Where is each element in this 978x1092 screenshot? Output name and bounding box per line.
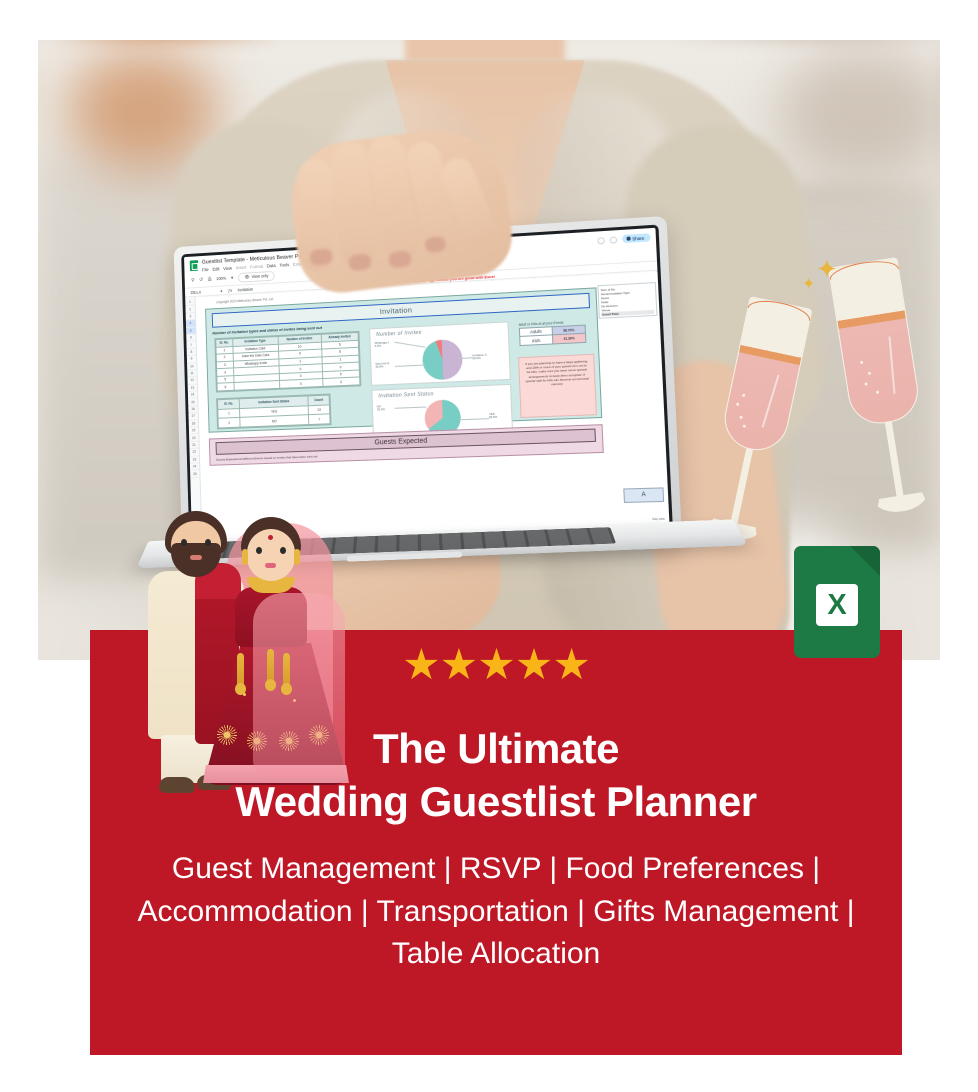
groom-mouth: [190, 555, 202, 560]
glass-shine: [888, 336, 895, 394]
cell: 0: [322, 377, 360, 386]
feature-subtitle: Guest Management | RSVP | Food Preferenc…: [130, 848, 862, 976]
view-mode-label: View only: [251, 274, 268, 280]
pie2-val-no: 35.0%: [377, 407, 385, 411]
guests-expected-subheading: Guests Expected at Different Events base…: [216, 454, 317, 461]
pie2-val-yes: 65.0%: [489, 415, 497, 419]
menu-item-data[interactable]: Data: [267, 263, 276, 268]
bubble: [868, 372, 871, 375]
bride-earring-right: [294, 549, 300, 565]
eye-icon: 👁: [245, 274, 250, 280]
chevron-down-icon-2[interactable]: ▾: [220, 288, 222, 293]
cell-reference[interactable]: D5:L4: [191, 289, 215, 295]
sparkle-icon: ✦: [816, 254, 838, 285]
guests-expected-heading: Guests Expected: [216, 429, 596, 455]
flute-rim: [828, 257, 899, 280]
flute-rim: [748, 296, 813, 321]
chevron-down-icon[interactable]: ▾: [231, 275, 234, 281]
menu-item-view[interactable]: View: [223, 265, 232, 270]
bride-eye-left: [256, 547, 262, 554]
kids-tip-note: If you are planning to have a large gath…: [518, 354, 597, 418]
bride-earring-left: [242, 549, 248, 565]
share-button-label: Share: [632, 235, 644, 241]
print-icon[interactable]: ⎙: [208, 276, 212, 282]
chart-number-of-invitee[interactable]: Number of Invitee Whatsapp I. 5.0%: [369, 321, 511, 385]
menu-item-edit[interactable]: Edit: [212, 266, 219, 271]
lehenga-motif: [217, 725, 237, 745]
invitation-types-table[interactable]: Sl. No. Invitation Type Number of Invite…: [214, 331, 361, 393]
pie1-label-invitation: Invitation C. 50.0%: [472, 354, 488, 361]
leader-line: [459, 418, 489, 420]
pie2-label-yes: YES 65.0%: [489, 413, 498, 420]
menu-item-tools[interactable]: Tools: [279, 262, 289, 267]
adults-vs-kids: Adult vs Kids at all your Events Adults …: [519, 319, 587, 345]
bride-eye-right: [280, 547, 286, 554]
groom-shoe-left: [159, 777, 195, 793]
pie1-val-savedate: 45.0%: [375, 365, 383, 369]
copyright-text: Copyright 2023 Meticulous Beaver Pvt. Lt…: [216, 297, 274, 304]
excel-letter-badge: X: [816, 584, 858, 626]
formula-value[interactable]: Invitation: [238, 286, 254, 292]
pie2-label-no: NO 35.0%: [377, 405, 385, 412]
menu-item-file[interactable]: File: [202, 267, 209, 272]
leader-line: [394, 342, 425, 348]
pie-chart-1: [422, 339, 463, 381]
wedding-couple-illustration: [143, 503, 348, 798]
excel-file-icon: X: [794, 546, 880, 658]
invitation-status-table[interactable]: Sl. No. Invitation Sent Status Count 1 Y…: [216, 394, 331, 430]
bubble: [876, 391, 879, 394]
cell: [234, 381, 280, 390]
bride-tassel: [283, 653, 290, 687]
flute-bowl: [828, 257, 922, 428]
champagne-glasses-illustration: ✦ ✦: [744, 248, 940, 538]
bride-tassel: [237, 653, 244, 687]
bubble: [860, 361, 863, 364]
bride-lips: [265, 563, 276, 568]
row-header[interactable]: 25: [190, 470, 200, 477]
bride-bindi: [268, 535, 273, 540]
lock-icon: [626, 237, 630, 241]
view-mode-chip[interactable]: 👁 View only: [238, 270, 275, 282]
hand-on-laptop-lid: [285, 122, 517, 297]
kids-row: Kids 41.30%: [520, 334, 586, 346]
leader-line: [395, 407, 427, 409]
share-button[interactable]: Share: [622, 233, 651, 243]
pivot-side-panel: Sum of No. Accommodation Type Home Hotel…: [597, 282, 657, 322]
leader-line: [395, 365, 425, 367]
pivot-table[interactable]: Sum of No. Accommodation Type Home Hotel…: [597, 282, 657, 319]
poster-canvas: Guestlist Template - Meticulous Beaver P…: [0, 0, 978, 1092]
menu-item-format[interactable]: Format: [250, 263, 263, 269]
pie1-label-whatsapp: Whatsapp I. 5.0%: [375, 341, 390, 348]
trackpad: [347, 552, 462, 562]
pie1-val-whatsapp: 5.0%: [375, 344, 382, 348]
sheets-icon: [190, 260, 199, 271]
glass-shine: [762, 374, 780, 427]
groom-eye-right: [205, 539, 211, 546]
cell: 2: [218, 418, 240, 428]
fx-icon: ƒx: [228, 288, 232, 293]
invitation-panel: Invitation Number of Invitation types an…: [205, 287, 602, 432]
groom-eye-left: [181, 539, 187, 546]
fingernail: [348, 253, 372, 272]
bubble: [864, 382, 867, 385]
undo-icon[interactable]: ↺: [199, 277, 203, 283]
pie1-label-savedate: Save the D. 45.0%: [375, 362, 390, 369]
kids-value: 41.30%: [552, 334, 585, 344]
history-icon[interactable]: [597, 237, 605, 245]
kids-label: Kids: [520, 335, 553, 345]
daywise-label: Day wise: [652, 517, 665, 521]
flute-stem: [885, 421, 904, 499]
sparkle-icon: ✦: [802, 274, 815, 294]
menu-item-insert[interactable]: Insert: [236, 264, 246, 269]
chart-title: Number of Invitee: [376, 330, 422, 338]
bride-tassel: [267, 649, 274, 683]
fingernail: [388, 250, 412, 269]
cell: 7: [309, 414, 330, 424]
analysis-cell[interactable]: A: [623, 487, 664, 503]
cell: NO: [240, 415, 309, 427]
search-icon[interactable]: ⚲: [191, 277, 195, 283]
cell: 6: [217, 383, 234, 391]
comment-icon[interactable]: [609, 236, 617, 244]
cell: 0: [279, 379, 322, 388]
zoom-level[interactable]: 100%: [216, 276, 226, 281]
chart-title-2: Invitation Sent Status: [378, 391, 434, 399]
